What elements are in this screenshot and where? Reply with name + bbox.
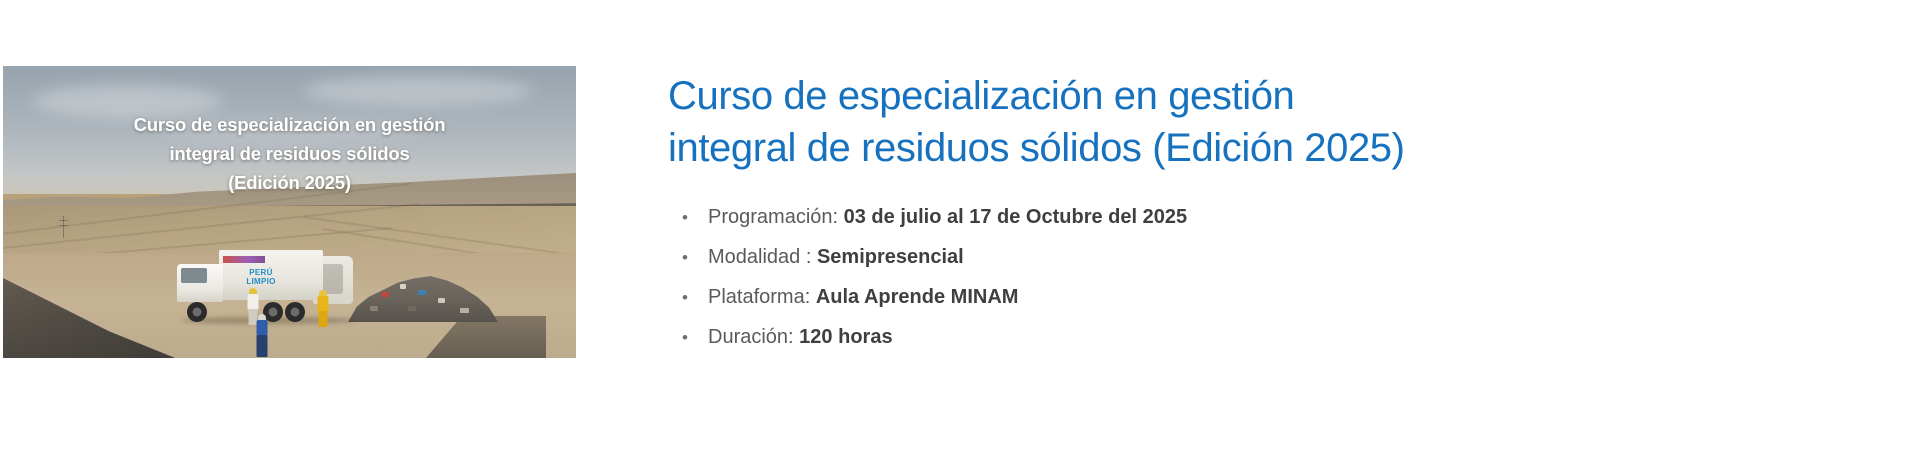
truck-brand-line2: LIMPIO <box>231 277 291 286</box>
bullet-label: Duración: <box>708 326 794 348</box>
worker-torso <box>248 294 259 310</box>
slide-root: PERÚ LIMPIO <box>0 0 1919 450</box>
cloud-shape <box>303 76 533 106</box>
bullet-value: 120 horas <box>799 326 892 348</box>
waste-bit <box>370 306 378 311</box>
bullet-label: Programación: <box>708 206 838 228</box>
garbage-truck: PERÚ LIMPIO <box>171 244 361 324</box>
photo-overlay-title: Curso de especialización en gestión inte… <box>3 110 576 197</box>
course-title-line-1: Curso de especialización en gestión <box>668 70 1478 122</box>
worker-figure <box>316 290 330 330</box>
worker-torso <box>318 296 329 312</box>
bullet-value: 03 de julio al 17 de Octubre del 2025 <box>844 206 1187 228</box>
waste-bit <box>382 292 389 297</box>
truck-wheel <box>187 302 207 322</box>
waste-bit <box>408 306 416 311</box>
bullet-dot-icon: • <box>668 245 708 271</box>
bullet-content: Programación: 03 de julio al 17 de Octub… <box>708 204 1187 230</box>
truck-window <box>181 268 207 283</box>
bullet-content: Plataforma: Aula Aprende MINAM <box>708 284 1018 310</box>
worker-legs <box>319 311 328 327</box>
photo-overlay-line-2: integral de residuos sólidos <box>21 139 558 168</box>
bullet-content: Modalidad : Semipresencial <box>708 244 964 270</box>
waste-bit <box>400 284 406 289</box>
course-photo-card: PERÚ LIMPIO <box>3 66 576 358</box>
bullet-label: Plataforma: <box>708 286 810 308</box>
waste-pile <box>348 266 498 322</box>
worker-torso <box>257 320 268 336</box>
power-pylon <box>63 216 64 238</box>
worker-figure <box>253 314 271 358</box>
worker-legs <box>257 335 268 357</box>
course-title-line-2: integral de residuos sólidos (Edición 20… <box>668 122 1478 174</box>
bullet-dot-icon: • <box>668 325 708 351</box>
bullet-label: Modalidad : <box>708 246 811 268</box>
list-item: • Modalidad : Semipresencial <box>668 244 1848 271</box>
landfill-photo: PERÚ LIMPIO <box>3 66 576 358</box>
course-title: Curso de especialización en gestión inte… <box>668 70 1478 174</box>
course-info-panel: Curso de especialización en gestión inte… <box>668 70 1848 364</box>
photo-overlay-line-1: Curso de especialización en gestión <box>21 110 558 139</box>
bullet-dot-icon: • <box>668 205 708 231</box>
list-item: • Plataforma: Aula Aprende MINAM <box>668 284 1848 311</box>
photo-overlay-line-3: (Edición 2025) <box>21 168 558 197</box>
bullet-value: Aula Aprende MINAM <box>816 286 1019 308</box>
list-item: • Programación: 03 de julio al 17 de Oct… <box>668 204 1848 231</box>
truck-wheel <box>285 302 305 322</box>
waste-bit <box>460 308 469 313</box>
waste-bit <box>418 290 426 295</box>
truck-brand-line1: PERÚ <box>231 268 291 277</box>
course-details-list: • Programación: 03 de julio al 17 de Oct… <box>668 204 1848 351</box>
truck-brand-label: PERÚ LIMPIO <box>231 268 291 286</box>
waste-bit <box>438 298 445 303</box>
list-item: • Duración: 120 horas <box>668 324 1848 351</box>
bullet-value: Semipresencial <box>817 246 964 268</box>
bullet-content: Duración: 120 horas <box>708 324 893 350</box>
bullet-dot-icon: • <box>668 285 708 311</box>
truck-logo-stripe <box>223 256 265 263</box>
